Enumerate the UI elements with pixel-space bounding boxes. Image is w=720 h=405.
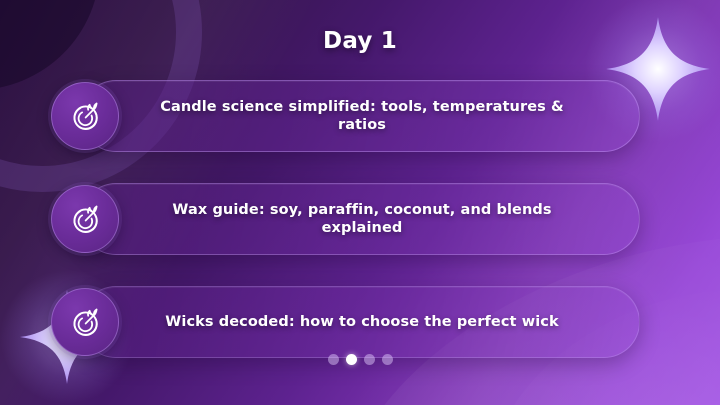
- target-dart-icon: [51, 82, 119, 150]
- pagination-dot-active[interactable]: [346, 354, 357, 365]
- list-item[interactable]: Candle science simplified: tools, temper…: [80, 80, 640, 152]
- pagination-dot[interactable]: [328, 354, 339, 365]
- pagination-dot[interactable]: [364, 354, 375, 365]
- pagination-dots[interactable]: [0, 354, 720, 365]
- list-item-label: Wax guide: soy, paraffin, coconut, and b…: [81, 201, 639, 237]
- list-item[interactable]: Wax guide: soy, paraffin, coconut, and b…: [80, 183, 640, 255]
- list-item-label: Candle science simplified: tools, temper…: [81, 98, 639, 134]
- list-item-label: Wicks decoded: how to choose the perfect…: [81, 313, 639, 331]
- target-dart-icon: [51, 288, 119, 356]
- pagination-dot[interactable]: [382, 354, 393, 365]
- slide-canvas: Day 1 Candle science simplified: tools, …: [0, 0, 720, 405]
- page-title: Day 1: [0, 28, 720, 54]
- list-item[interactable]: Wicks decoded: how to choose the perfect…: [80, 286, 640, 358]
- card-list: Candle science simplified: tools, temper…: [80, 80, 640, 358]
- target-dart-icon: [51, 185, 119, 253]
